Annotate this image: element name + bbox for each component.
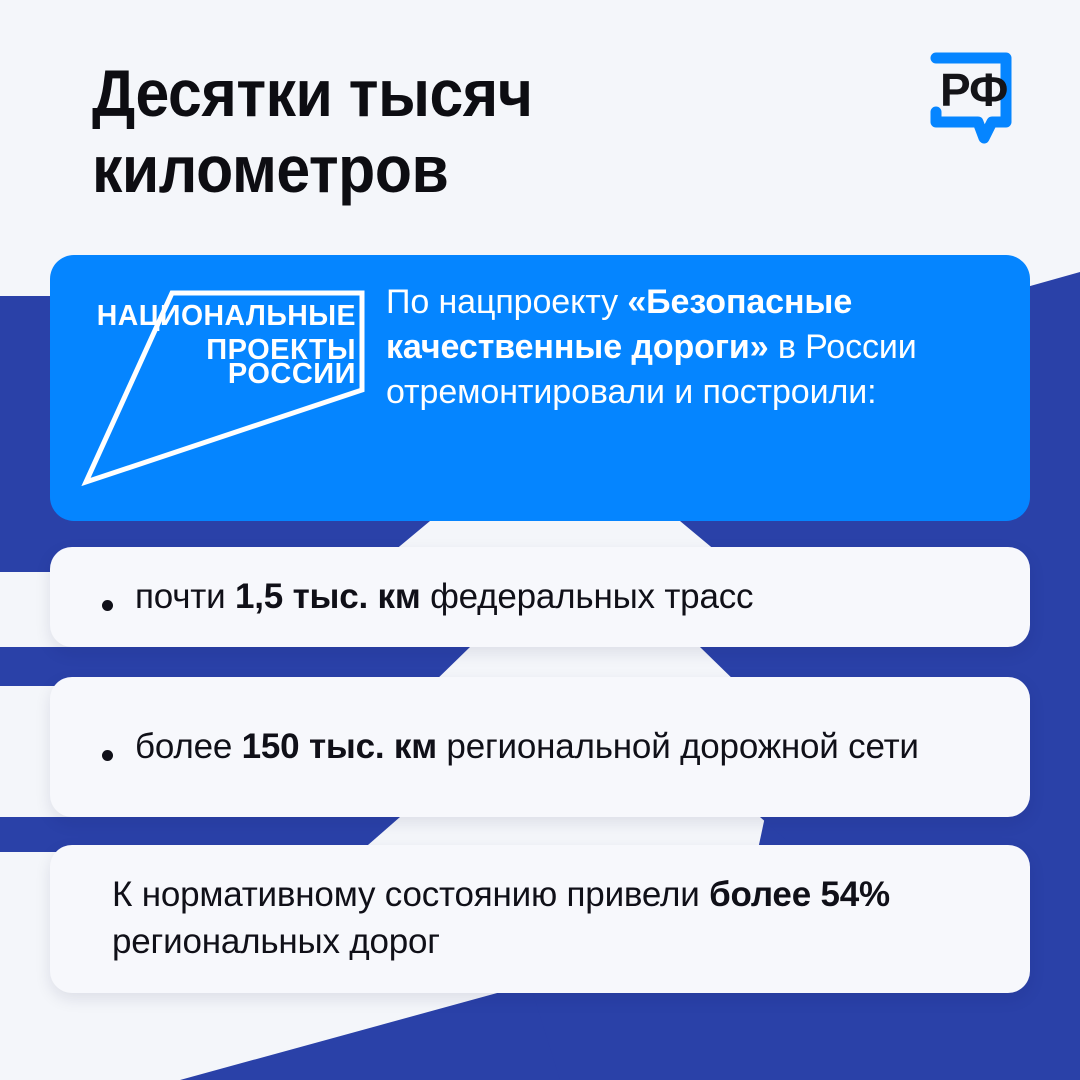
page-title: Десятки тысячкилометров [92,56,791,208]
fact-card-normative-condition: К нормативному состоянию привели более 5… [50,845,1030,993]
fact-card-content: более 150 тыс. км региональной дорожной … [50,677,1030,817]
fact-card-content: почти 1,5 тыс. км федеральных трасс [50,547,1030,647]
hero-text: По нацпроекту «Безопасные качественные д… [386,280,1010,415]
fact-text: почти 1,5 тыс. км федеральных трасс [135,574,753,621]
fact-card-regional-network: более 150 тыс. км региональной дорожной … [50,677,1030,817]
rf-logo-letters: РФ [940,64,1007,116]
fact-highlight: 150 тыс. км [242,727,437,766]
fact-prefix: К нормативному состоянию привели [112,875,709,914]
fact-suffix: федеральных трасс [421,577,754,616]
bullet-dot-icon [102,600,113,611]
national-projects-russia-emblem: НАЦИОНАЛЬНЫЕ ПРОЕКТЫ РОССИИ [68,277,380,499]
emblem-line-3: РОССИИ [228,358,356,390]
rf-speech-bubble-logo: РФ [918,36,1034,152]
fact-text: более 150 тыс. км региональной дорожной … [135,724,919,771]
fact-prefix: более [135,727,242,766]
fact-card-content: К нормативному состоянию привели более 5… [50,845,1030,993]
hero-text-prefix: По нацпроекту [386,283,627,321]
infographic-canvas: Десятки тысячкилометров РФ НАЦИОНАЛЬНЫЕ … [0,0,1080,1080]
fact-suffix: региональной дорожной сети [437,727,919,766]
bullet-dot-icon [102,750,113,761]
emblem-line-1: НАЦИОНАЛЬНЫЕ [97,300,356,332]
bottom-blue-chevron-edge [180,984,560,1080]
hero-card: НАЦИОНАЛЬНЫЕ ПРОЕКТЫ РОССИИ По нацпроект… [50,255,1030,521]
header: Десятки тысячкилометров РФ [0,0,1080,252]
fact-suffix: региональных дорог [112,922,440,961]
page-title-line-1: Десятки тысяч [92,56,533,130]
fact-card-federal-highways: почти 1,5 тыс. км федеральных трасс [50,547,1030,647]
fact-prefix: почти [135,577,235,616]
fact-text: К нормативному состоянию привели более 5… [112,872,976,966]
fact-highlight: 1,5 тыс. км [235,577,421,616]
fact-highlight: более 54% [709,875,890,914]
page-title-line-2: километров [92,132,448,206]
